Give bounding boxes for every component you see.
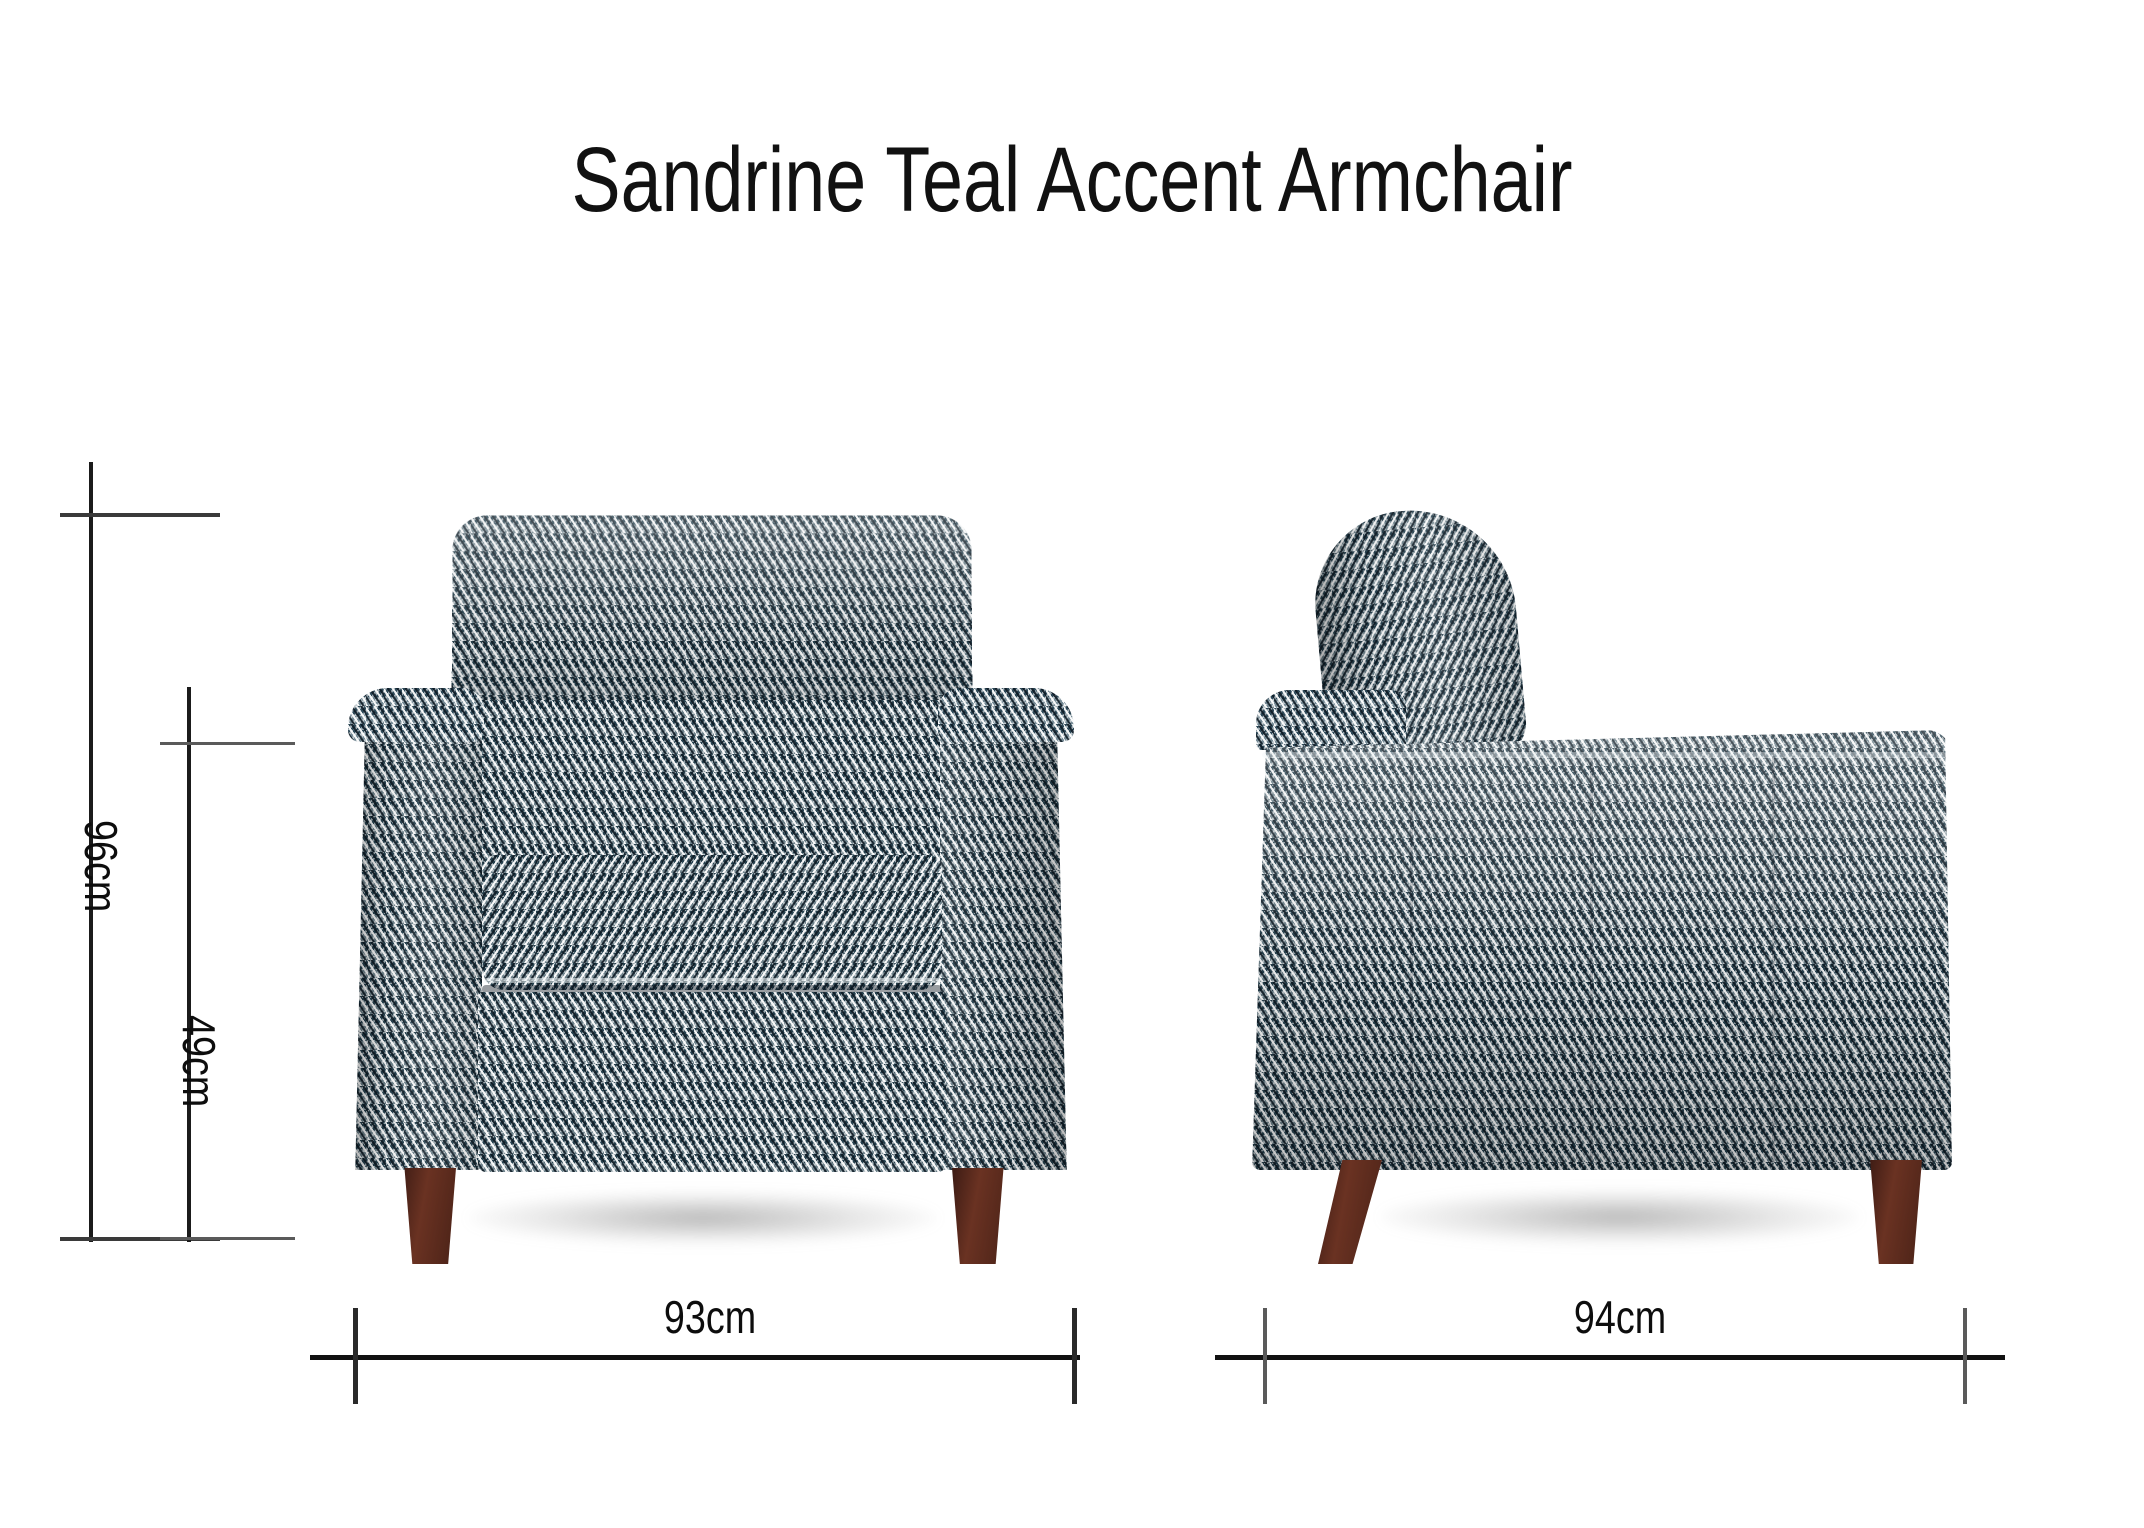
depth-dim-tick-left	[1263, 1308, 1267, 1404]
side-chair-shadow	[1380, 1190, 1860, 1244]
front-left-arm	[350, 690, 482, 1170]
depth-dim-tick-right	[1963, 1308, 1967, 1404]
width-dim-tick-left	[353, 1308, 358, 1404]
depth-dim-line	[1215, 1355, 2005, 1360]
side-seam-1	[1410, 760, 1413, 1160]
width-dim-label: 93cm	[587, 1290, 833, 1344]
side-seam-3	[1772, 756, 1775, 1162]
front-seat-cushion	[482, 855, 942, 990]
front-right-arm-roll	[938, 688, 1074, 742]
width-dim-line	[310, 1355, 1080, 1360]
front-right-leg	[952, 1168, 1008, 1264]
front-backrest-lower	[462, 700, 962, 880]
height-dim-tick-top	[60, 513, 220, 517]
height-dim-label: 96cm	[74, 820, 128, 912]
depth-dim-label: 94cm	[1497, 1290, 1743, 1344]
side-body	[1252, 730, 1952, 1170]
front-left-leg	[400, 1168, 456, 1264]
seat-height-dim-tick-top	[160, 742, 295, 745]
side-seam-2	[1590, 758, 1593, 1162]
width-dim-tick-right	[1072, 1308, 1077, 1404]
side-rear-leg	[1868, 1160, 1922, 1264]
page-title: Sandrine Teal Accent Armchair	[214, 128, 1929, 233]
front-seat-piping	[484, 978, 940, 983]
side-arm-roll	[1256, 690, 1406, 750]
front-base	[478, 992, 946, 1172]
seat-height-dim-tick-bottom	[160, 1237, 295, 1240]
side-top-piping	[1262, 752, 1946, 758]
front-left-arm-roll	[348, 688, 484, 742]
front-right-arm	[940, 690, 1072, 1170]
side-front-leg	[1318, 1160, 1382, 1264]
seat-height-dim-label: 49cm	[172, 1015, 226, 1107]
seat-height-dim-line	[187, 687, 191, 1242]
front-chair-shadow	[468, 1192, 938, 1244]
